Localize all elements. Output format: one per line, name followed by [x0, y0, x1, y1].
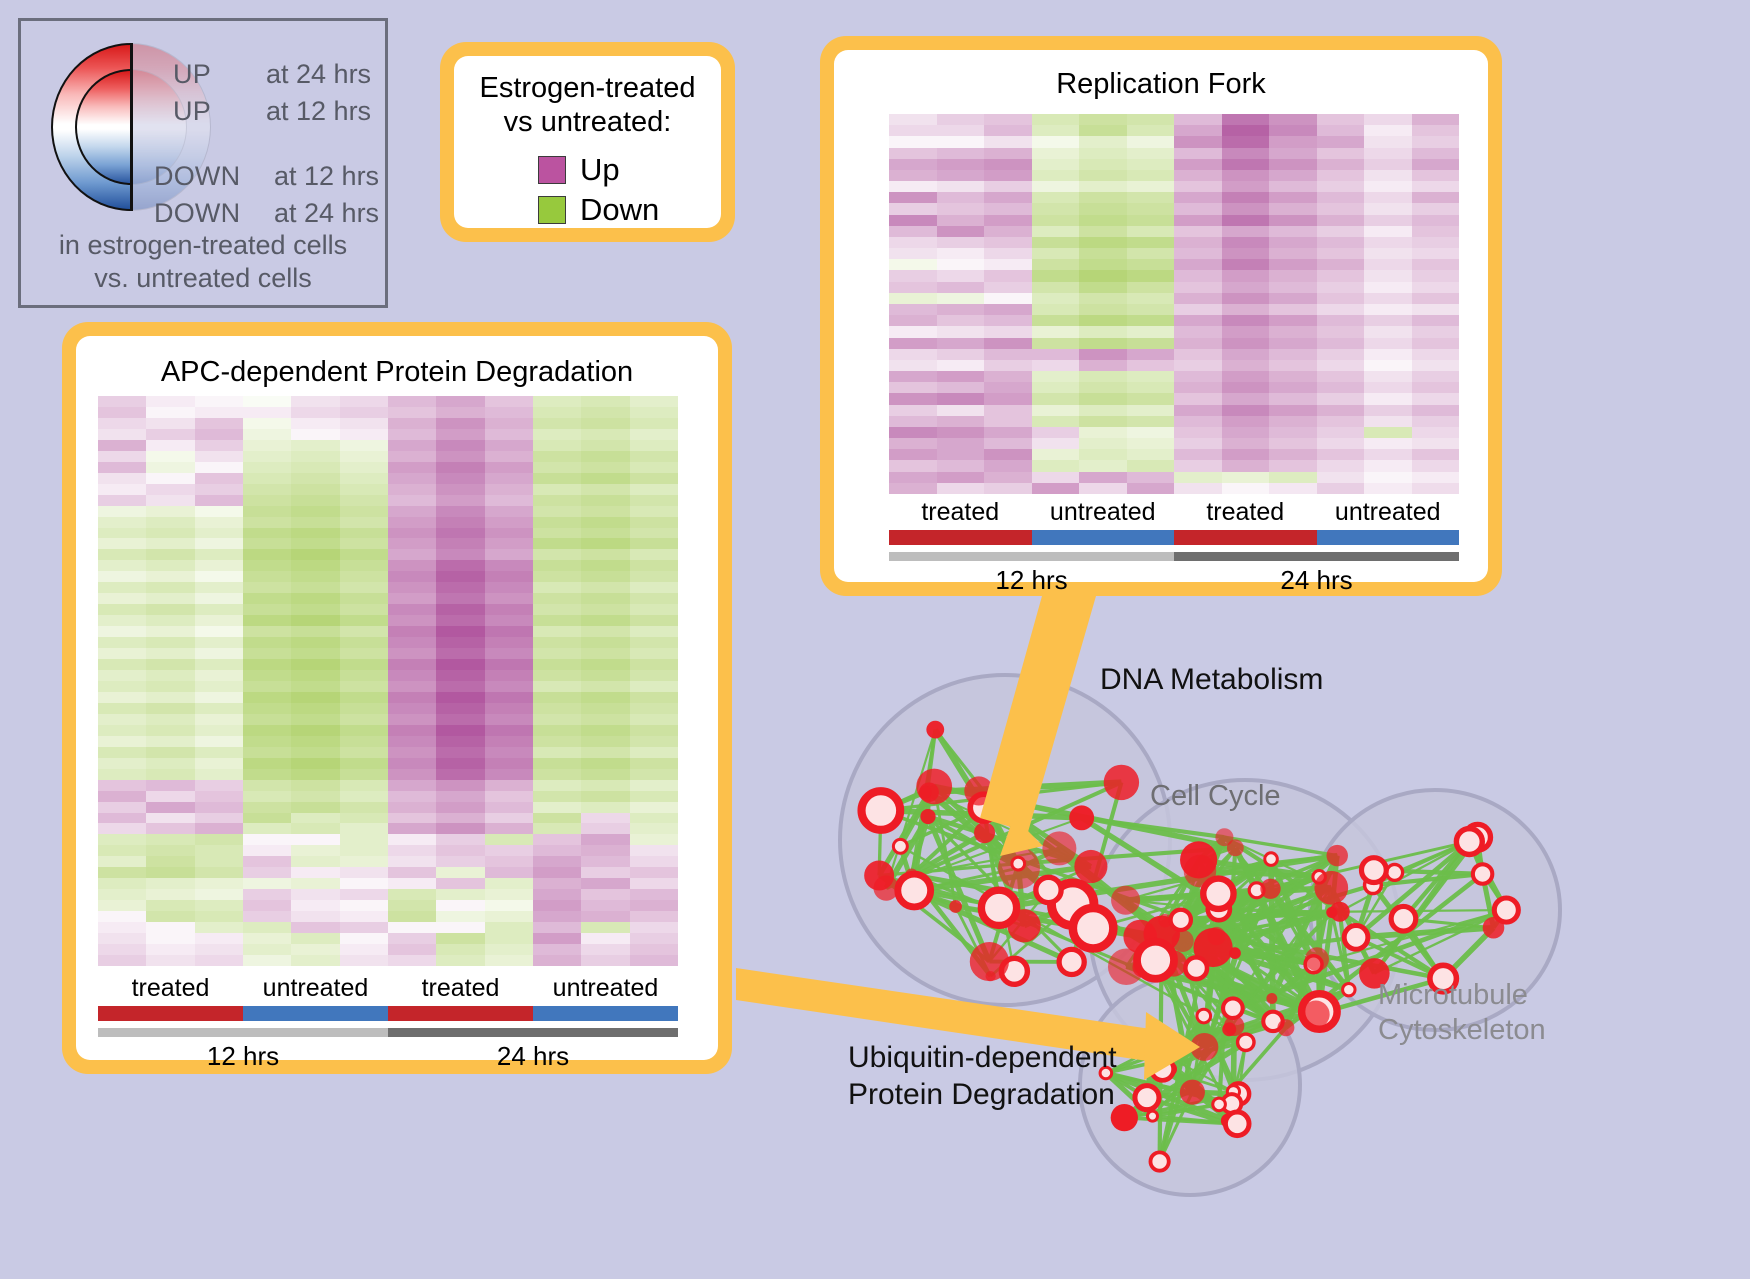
heatmap-cell	[937, 226, 985, 237]
network-node[interactable]	[1012, 857, 1025, 870]
heatmap-cell	[1317, 393, 1365, 404]
heatmap-cell	[937, 472, 985, 483]
heatmap-cell	[889, 360, 937, 371]
heatmap-cell	[1127, 338, 1175, 349]
heatmap-cell	[1127, 304, 1175, 315]
heatmap-cell	[1269, 270, 1317, 281]
heatmap-cell	[243, 637, 291, 648]
network-node[interactable]	[1197, 1009, 1211, 1023]
heatmap-cell	[889, 326, 937, 337]
heatmap-cell	[630, 856, 678, 867]
heatmap-cell	[630, 648, 678, 659]
heatmap-cell	[984, 125, 1032, 136]
heatmap-cell	[937, 315, 985, 326]
heatmap-cell	[1032, 282, 1080, 293]
network-node[interactable]	[1260, 879, 1280, 899]
heatmap-cell	[889, 114, 937, 125]
network-node[interactable]	[1361, 858, 1386, 883]
heatmap-cell	[291, 955, 339, 966]
network-node[interactable]	[1265, 853, 1278, 866]
heatmap-cell	[436, 604, 484, 615]
network-node[interactable]	[1225, 1112, 1249, 1136]
heatmap-cell	[485, 813, 533, 824]
heatmap-cell	[340, 407, 388, 418]
heatmap-cell	[889, 405, 937, 416]
heatmap-cell	[1412, 416, 1460, 427]
heatmap-cell	[291, 451, 339, 462]
heatmap-cell	[195, 582, 243, 593]
heatmap-cell	[581, 560, 629, 571]
heatmap-cell	[291, 506, 339, 517]
network-node[interactable]	[1456, 829, 1482, 855]
heatmap-cell	[533, 769, 581, 780]
heatmap-cell	[889, 125, 937, 136]
heatmap-cell	[340, 418, 388, 429]
replication-fork-panel: Replication Fork treateduntreatedtreated…	[820, 36, 1502, 596]
heatmap-cell	[243, 593, 291, 604]
heatmap-cell	[485, 604, 533, 615]
heatmap-cell	[1269, 405, 1317, 416]
heatmap-cell	[243, 922, 291, 933]
heatmap-cell	[581, 780, 629, 791]
heatmap-cell	[1222, 416, 1270, 427]
heatmap-cell	[1174, 203, 1222, 214]
heatmap-cell	[98, 714, 146, 725]
heatmap-cell	[388, 659, 436, 670]
heatmap-cell	[340, 571, 388, 582]
heatmap-cell	[1127, 326, 1175, 337]
heatmap-cell	[533, 703, 581, 714]
heatmap-cell	[291, 429, 339, 440]
heatmap-cell	[146, 396, 194, 407]
condition-color-bar	[98, 1006, 678, 1021]
heatmap-cell	[243, 517, 291, 528]
heatmap-cell	[291, 813, 339, 824]
network-node[interactable]	[1036, 877, 1061, 902]
heatmap-cell	[1269, 349, 1317, 360]
network-node[interactable]	[1190, 1033, 1218, 1061]
condition-label: treated	[98, 974, 243, 1003]
heatmap-cell	[1412, 125, 1460, 136]
heatmap-cell	[388, 955, 436, 966]
heatmap-cell	[533, 834, 581, 845]
heatmap-cell	[485, 681, 533, 692]
heatmap-cell	[581, 944, 629, 955]
heatmap-cell	[1412, 382, 1460, 393]
network-node[interactable]	[1135, 1086, 1159, 1110]
heatmap-cell	[1174, 382, 1222, 393]
heatmap-cell	[1269, 215, 1317, 226]
network-node[interactable]	[949, 900, 962, 913]
time-bar-segment	[98, 1028, 388, 1037]
heatmap-cell	[630, 451, 678, 462]
heatmap-cell	[485, 769, 533, 780]
heatmap-cell	[1412, 192, 1460, 203]
network-node[interactable]	[1387, 864, 1403, 880]
heatmap-cell	[1032, 438, 1080, 449]
network-node[interactable]	[1137, 942, 1174, 979]
heatmap-cell	[291, 560, 339, 571]
heatmap-cell	[1032, 226, 1080, 237]
heatmap-cell	[291, 440, 339, 451]
heatmap-cell	[533, 758, 581, 769]
heatmap-cell	[195, 604, 243, 615]
heatmap-cell	[146, 758, 194, 769]
heatmap-cell	[146, 834, 194, 845]
heatmap-cell	[1127, 293, 1175, 304]
heatmap-cell	[984, 382, 1032, 393]
heatmap-cell	[1364, 427, 1412, 438]
network-node[interactable]	[1069, 805, 1094, 830]
heatmap-cell	[1317, 181, 1365, 192]
heatmap-cell	[1127, 125, 1175, 136]
heatmap-cell	[581, 451, 629, 462]
heatmap-cell	[1364, 148, 1412, 159]
heatmap-cell	[1412, 136, 1460, 147]
heatmap-cell	[1222, 460, 1270, 471]
heatmap-cell	[340, 856, 388, 867]
heatmap-cell	[1174, 192, 1222, 203]
heatmap-cell	[533, 615, 581, 626]
heatmap-cell	[581, 549, 629, 560]
heatmap-cell	[195, 670, 243, 681]
heatmap-cell	[1269, 136, 1317, 147]
heatmap-cell	[291, 462, 339, 473]
heatmap-cell	[388, 560, 436, 571]
heatmap-cell	[98, 528, 146, 539]
heatmap-cell	[98, 506, 146, 517]
heatmap-cell	[195, 955, 243, 966]
heatmap-cell	[485, 736, 533, 747]
heatmap-cell	[98, 462, 146, 473]
key-title: Estrogen-treated vs untreated:	[454, 72, 721, 139]
heatmap-cell	[388, 396, 436, 407]
network-node[interactable]	[1229, 947, 1241, 959]
heatmap-cell	[388, 922, 436, 933]
heatmap-cell	[1174, 282, 1222, 293]
heatmap-cell	[1032, 159, 1080, 170]
heatmap-cell	[1127, 203, 1175, 214]
heatmap-cell	[1317, 270, 1365, 281]
heatmap-cell	[340, 659, 388, 670]
heatmap-cell	[98, 878, 146, 889]
heatmap-cell	[436, 681, 484, 692]
heatmap-cell	[98, 451, 146, 462]
heatmap-cell	[146, 845, 194, 856]
key-items: Up Down	[538, 152, 659, 232]
heatmap-cell	[1364, 315, 1412, 326]
heatmap-cell	[1127, 449, 1175, 460]
heatmap-cell	[146, 791, 194, 802]
heatmap-cell	[581, 725, 629, 736]
network-node[interactable]	[1330, 902, 1350, 922]
heatmap-cell	[340, 626, 388, 637]
heatmap-cell	[581, 517, 629, 528]
heatmap-cell	[388, 911, 436, 922]
heatmap-cell	[1127, 282, 1175, 293]
network-node[interactable]	[1344, 925, 1368, 949]
heatmap-cell	[436, 692, 484, 703]
heatmap-cell	[533, 911, 581, 922]
heatmap-cell	[195, 429, 243, 440]
network-node[interactable]	[1042, 831, 1076, 865]
heatmap-cell	[98, 560, 146, 571]
network-node[interactable]	[1059, 949, 1084, 974]
heatmap-cell	[1222, 315, 1270, 326]
heatmap-cell	[630, 506, 678, 517]
heatmap-cell	[1412, 293, 1460, 304]
heatmap-cell	[291, 593, 339, 604]
network-node[interactable]	[986, 971, 996, 981]
time-bar-segment	[388, 1028, 678, 1037]
network-node[interactable]	[1007, 909, 1040, 942]
heatmap-cell	[581, 823, 629, 834]
network-node[interactable]	[1326, 845, 1347, 866]
heatmap-cell	[291, 659, 339, 670]
heatmap-cell	[984, 282, 1032, 293]
heatmap-cell	[388, 484, 436, 495]
network-node[interactable]	[1203, 879, 1233, 909]
heatmap-cell	[340, 517, 388, 528]
heatmap-cell	[1079, 181, 1127, 192]
heatmap-cell	[146, 473, 194, 484]
heatmap-cell	[485, 823, 533, 834]
heatmap-cell	[195, 922, 243, 933]
network-node[interactable]	[1147, 1111, 1157, 1121]
heatmap-cell	[340, 582, 388, 593]
network-node[interactable]	[1473, 864, 1492, 883]
heatmap-cell	[889, 282, 937, 293]
heatmap-cell	[1127, 148, 1175, 159]
heatmap-cell	[195, 813, 243, 824]
heatmap-cell	[340, 549, 388, 560]
heatmap-cell	[485, 517, 533, 528]
heatmap-cell	[1364, 472, 1412, 483]
network-node[interactable]	[916, 769, 952, 805]
heatmap-cell	[1222, 349, 1270, 360]
heatmap-cell	[1412, 326, 1460, 337]
heatmap-cell	[98, 604, 146, 615]
heatmap-cell	[98, 736, 146, 747]
heatmap-cell	[243, 889, 291, 900]
network-node[interactable]	[1277, 1019, 1294, 1036]
heatmap-cell	[388, 878, 436, 889]
heatmap-cell	[937, 438, 985, 449]
network-node[interactable]	[1073, 908, 1113, 948]
condition-bar-segment	[243, 1006, 388, 1021]
heatmap-cell	[937, 125, 985, 136]
network-node[interactable]	[1302, 1001, 1330, 1029]
heatmap-cell	[533, 823, 581, 834]
heatmap-cell	[243, 944, 291, 955]
heatmap-cell	[1127, 360, 1175, 371]
heatmap-cell	[1032, 148, 1080, 159]
heatmap-cell	[1222, 181, 1270, 192]
heatmap-cell	[485, 867, 533, 878]
network-node[interactable]	[1185, 957, 1207, 979]
heatmap-cell	[889, 438, 937, 449]
heatmap-cell	[533, 648, 581, 659]
heatmap-cell	[388, 900, 436, 911]
heatmap-cell	[1174, 460, 1222, 471]
network-node[interactable]	[1074, 850, 1107, 883]
heatmap-cell	[243, 900, 291, 911]
heatmap-cell	[146, 549, 194, 560]
heatmap-cell	[1412, 449, 1460, 460]
heatmap-cell	[243, 681, 291, 692]
heatmap-cell	[1269, 416, 1317, 427]
network-node[interactable]	[1171, 910, 1191, 930]
heatmap-cell	[340, 604, 388, 615]
heatmap-cell	[1174, 315, 1222, 326]
heatmap-cell	[1317, 203, 1365, 214]
network-node[interactable]	[1172, 930, 1194, 952]
network-node[interactable]	[893, 839, 907, 853]
network-node[interactable]	[1391, 906, 1416, 931]
heatmap-cell	[436, 582, 484, 593]
heatmap-cell	[195, 593, 243, 604]
heatmap-cell	[340, 780, 388, 791]
heatmap-cell	[630, 944, 678, 955]
heatmap-cell	[889, 472, 937, 483]
heatmap-cell	[340, 495, 388, 506]
heatmap-cell	[1079, 114, 1127, 125]
heatmap-cell	[291, 703, 339, 714]
heatmap-cell	[388, 626, 436, 637]
network-node[interactable]	[1227, 839, 1244, 856]
heatmap-cell	[243, 769, 291, 780]
heatmap-cell	[436, 670, 484, 681]
heatmap-cell	[533, 626, 581, 637]
network-node[interactable]	[1238, 1034, 1254, 1050]
network-node[interactable]	[898, 874, 931, 907]
heatmap-cell	[291, 604, 339, 615]
heatmap-cell	[1127, 371, 1175, 382]
heatmap-cell	[630, 582, 678, 593]
replication-fork-inner: Replication Fork treateduntreatedtreated…	[834, 50, 1488, 582]
network-node[interactable]	[1150, 1152, 1168, 1170]
heatmap-cell	[291, 911, 339, 922]
heatmap-cell	[436, 725, 484, 736]
heatmap-cell	[436, 889, 484, 900]
network-node[interactable]	[964, 776, 993, 805]
heatmap-cell	[195, 396, 243, 407]
heatmap-cell	[1032, 170, 1080, 181]
heatmap-cell	[485, 407, 533, 418]
network-node[interactable]	[1213, 1098, 1226, 1111]
network-node[interactable]	[926, 721, 944, 739]
heatmap-cell	[984, 136, 1032, 147]
condition-bar-segment	[98, 1006, 243, 1021]
network-node[interactable]	[919, 786, 932, 799]
heatmap-cell	[1412, 360, 1460, 371]
network-node[interactable]	[974, 822, 995, 843]
heatmap-cell	[937, 237, 985, 248]
condition-bar-segment	[533, 1006, 678, 1021]
heatmap-cell	[1174, 215, 1222, 226]
heatmap-cell	[388, 834, 436, 845]
heatmap-cell	[1127, 114, 1175, 125]
heatmap-cell	[533, 517, 581, 528]
heatmap-cell	[889, 192, 937, 203]
network-node[interactable]	[1138, 1041, 1156, 1059]
network-node[interactable]	[1111, 886, 1140, 915]
heatmap-cell	[1079, 136, 1127, 147]
heatmap-cell	[581, 922, 629, 933]
network-node[interactable]	[862, 791, 901, 830]
network-node[interactable]	[1104, 765, 1139, 800]
heatmap-cell	[1317, 192, 1365, 203]
heatmap-cell	[937, 136, 985, 147]
heatmap-cell	[1269, 472, 1317, 483]
network-node[interactable]	[1224, 1016, 1244, 1036]
heatmap-cell	[243, 626, 291, 637]
heatmap-cell	[889, 393, 937, 404]
heatmap-cell	[1032, 304, 1080, 315]
heatmap-cell	[291, 615, 339, 626]
heatmap-cell	[1127, 215, 1175, 226]
heatmap-cell	[1079, 438, 1127, 449]
heatmap-cell	[291, 582, 339, 593]
heatmap-cell	[1317, 125, 1365, 136]
network-node[interactable]	[920, 809, 935, 824]
heatmap-cell	[1317, 170, 1365, 181]
pathway-network-graph	[790, 610, 1750, 1279]
heatmap-cell	[630, 922, 678, 933]
heatmap-cell	[1269, 159, 1317, 170]
heatmap-cell	[291, 834, 339, 845]
network-node[interactable]	[1180, 1080, 1205, 1105]
heatmap-cell	[243, 692, 291, 703]
heatmap-cell	[436, 560, 484, 571]
network-node[interactable]	[1494, 898, 1518, 922]
heatmap-cell	[1079, 382, 1127, 393]
heatmap-cell	[436, 440, 484, 451]
heatmap-cell	[1032, 360, 1080, 371]
heatmap-cell	[889, 315, 937, 326]
network-node[interactable]	[1223, 998, 1243, 1018]
network-node[interactable]	[1266, 993, 1277, 1004]
heatmap-cell	[485, 473, 533, 484]
heatmap-cell	[937, 148, 985, 159]
network-node[interactable]	[864, 860, 894, 890]
heatmap-cell	[1269, 371, 1317, 382]
heatmap-cell	[533, 900, 581, 911]
network-node[interactable]	[1314, 871, 1348, 905]
network-node[interactable]	[1343, 983, 1355, 995]
heatmap-cell	[1317, 259, 1365, 270]
heatmap-cell	[1032, 248, 1080, 259]
heatmap-cell	[984, 293, 1032, 304]
heatmap-cell	[98, 703, 146, 714]
heatmap-cell	[1222, 148, 1270, 159]
network-node[interactable]	[1305, 947, 1329, 971]
heatmap-cell	[436, 495, 484, 506]
time-label: 24 hrs	[1174, 565, 1459, 596]
heatmap-cell	[98, 823, 146, 834]
heatmap-cell	[98, 922, 146, 933]
heatmap-cell	[1269, 438, 1317, 449]
replication-fork-heatmap	[889, 114, 1459, 494]
time-label: 12 hrs	[98, 1041, 388, 1072]
network-node[interactable]	[1151, 1058, 1173, 1080]
heatmap-cell	[340, 473, 388, 484]
heatmap-cell	[1032, 293, 1080, 304]
heatmap-cell	[1317, 382, 1365, 393]
heatmap-cell	[1032, 270, 1080, 281]
heatmap-cell	[1079, 215, 1127, 226]
heatmap-cell	[485, 802, 533, 813]
